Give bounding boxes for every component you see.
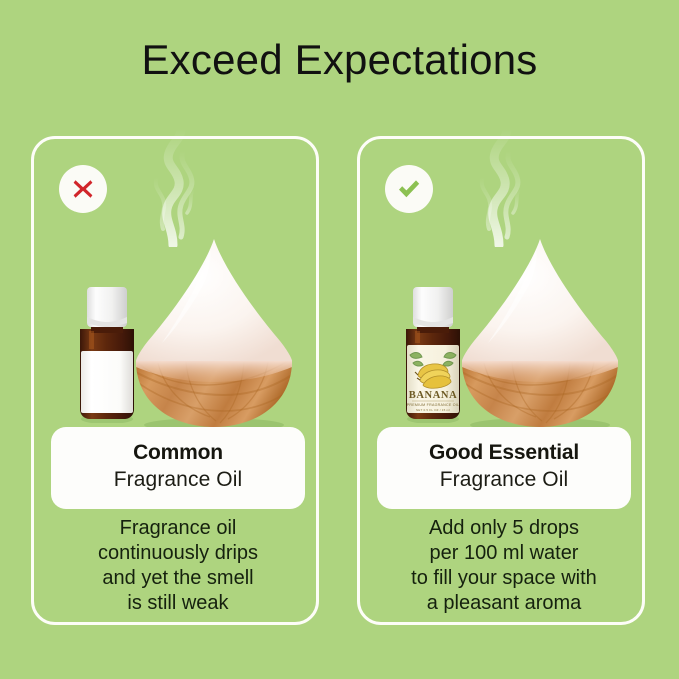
cross-mark-icon [70,176,96,202]
mist-vapor-icon [441,117,561,247]
card-description-good-essential: Add only 5 drops per 100 ml water to fil… [366,516,642,616]
poster-canvas: Exceed Expectations [0,0,679,679]
comparison-card-good-essential: BANANA PREMIUM FRAGRANCE OIL NET 0.5 FL … [357,136,645,625]
diffuser-device [128,235,300,431]
mist-vapor-icon [115,117,235,247]
check-mark-badge [385,165,433,213]
fragrance-bottle-banana: BANANA PREMIUM FRAGRANCE OIL NET 0.5 FL … [396,283,470,423]
page-title: Exceed Expectations [0,34,679,86]
comparison-card-common: Common Fragrance Oil Fragrance oil conti… [31,136,319,625]
product-name-pill-good-essential: Good Essential Fragrance Oil [377,427,631,509]
product-brand: Common [57,440,299,466]
card-description-common: Fragrance oil continuously drips and yet… [40,516,316,616]
product-kind: Fragrance Oil [383,466,625,493]
diffuser-device [454,235,626,431]
check-mark-icon [395,175,423,203]
bottle-label-subtitle: PREMIUM FRAGRANCE OIL [407,403,460,407]
bottle-label-net-weight: NET 0.5 FL OZ / 15 ml [416,408,450,412]
product-brand: Good Essential [383,440,625,466]
fragrance-bottle-common [70,283,144,423]
cross-mark-badge [59,165,107,213]
bottle-label-flavor: BANANA [409,390,458,401]
product-name-pill-common: Common Fragrance Oil [51,427,305,509]
product-kind: Fragrance Oil [57,466,299,493]
